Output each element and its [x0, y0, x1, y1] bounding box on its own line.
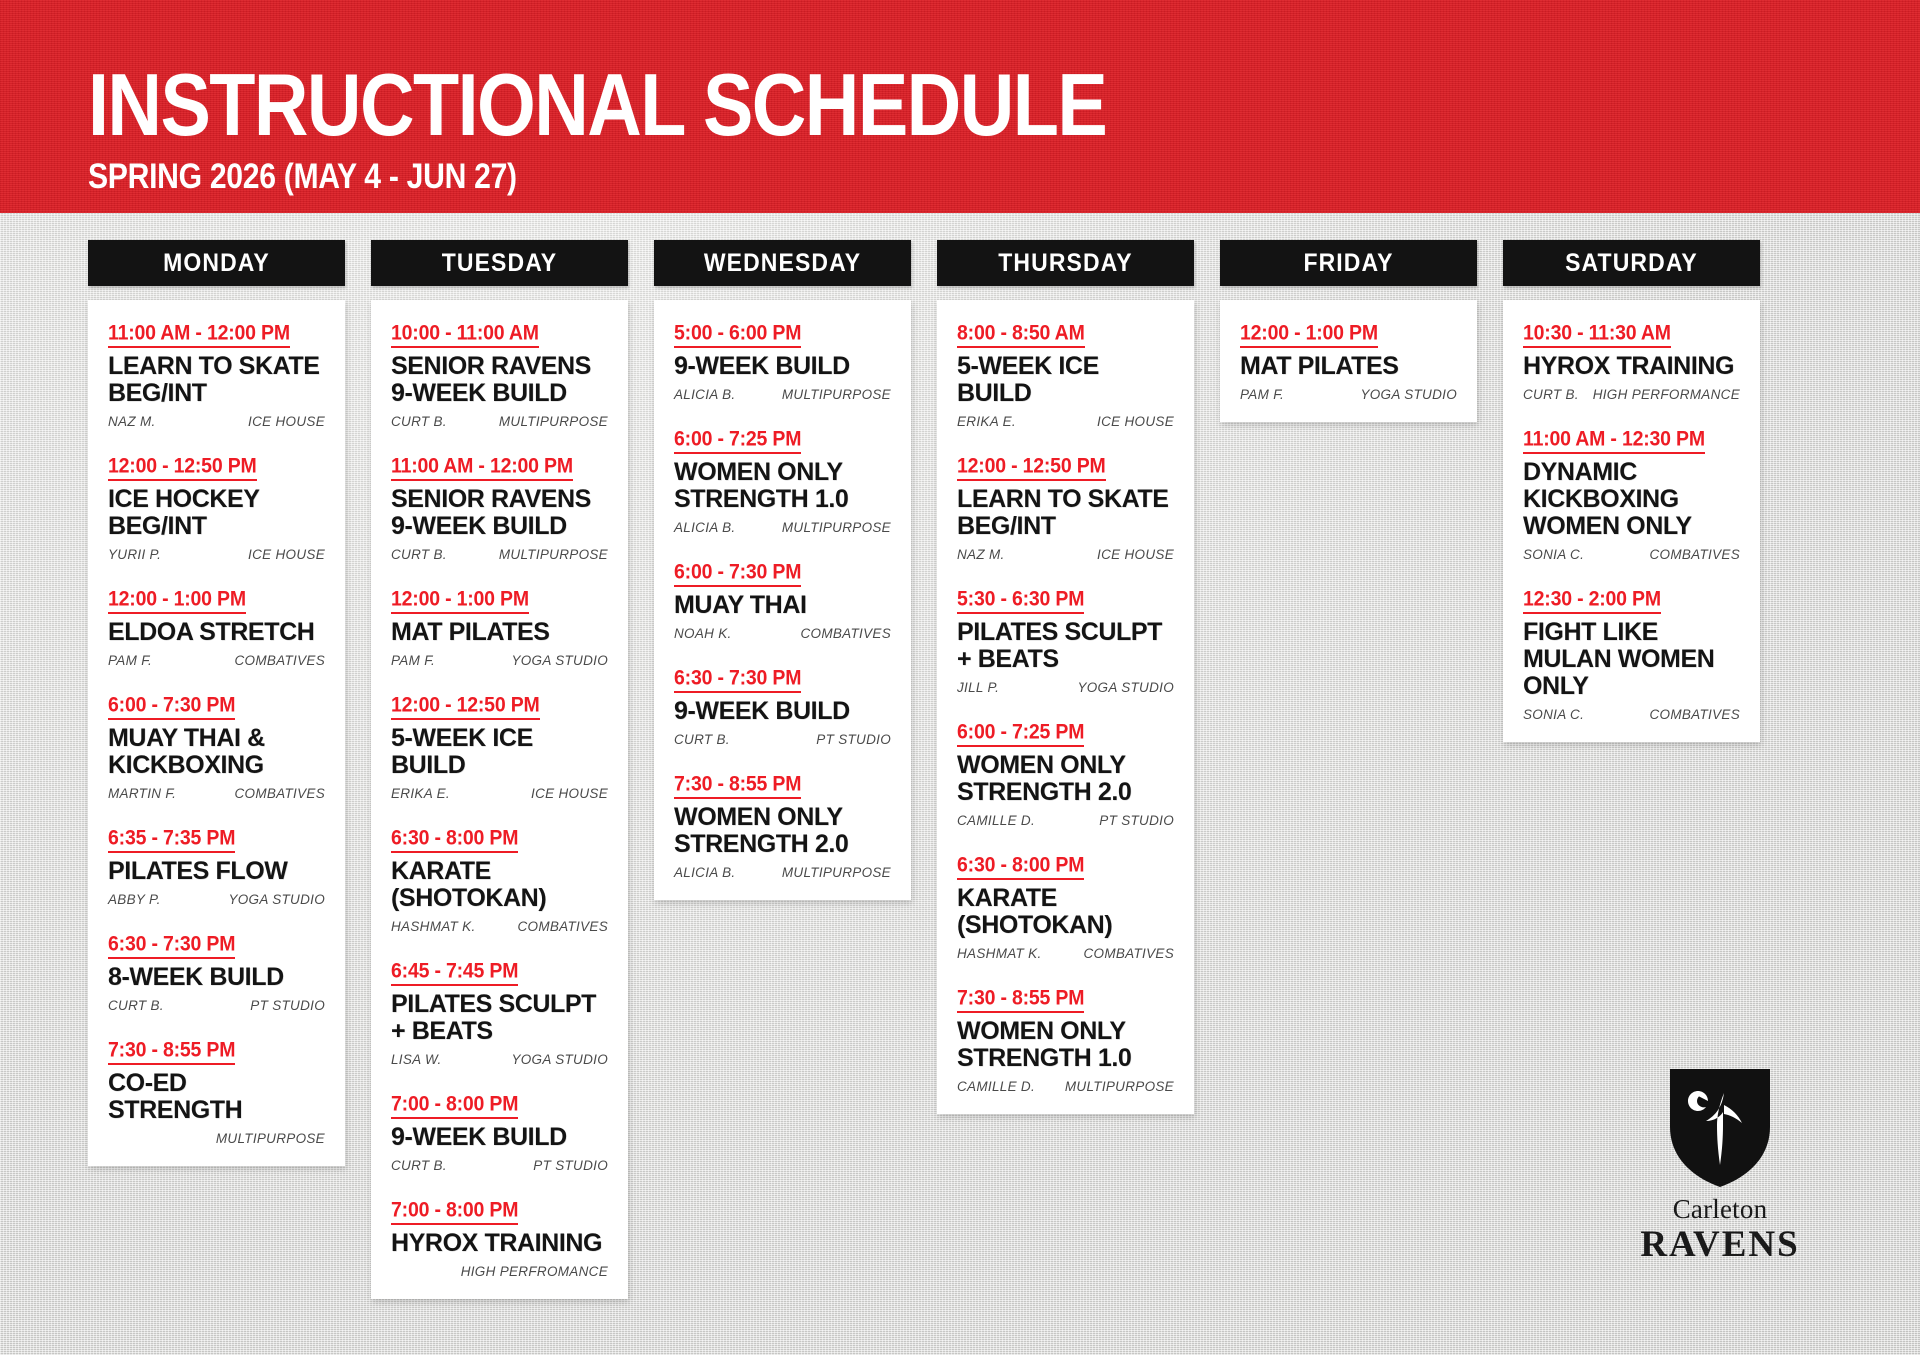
class-time: 6:30 - 8:00 PM	[957, 854, 1084, 880]
class-location: YOGA STUDIO	[511, 653, 608, 668]
class-time: 6:00 - 7:25 PM	[957, 721, 1084, 747]
class-instructor: ERIKA E.	[957, 414, 1016, 429]
class-entry[interactable]: 8:00 - 8:50 AM5-WEEK ICE BUILDERIKA E.IC…	[957, 322, 1174, 429]
class-instructor: ALICIA B.	[674, 520, 735, 535]
class-location: MULTIPURPOSE	[499, 547, 608, 562]
class-time: 6:00 - 7:30 PM	[108, 694, 235, 720]
class-meta: NAZ M.ICE HOUSE	[957, 547, 1174, 562]
class-instructor: PAM F.	[1240, 387, 1284, 402]
day-card: 8:00 - 8:50 AM5-WEEK ICE BUILDERIKA E.IC…	[937, 300, 1194, 1114]
class-instructor: CAMILLE D.	[957, 813, 1035, 828]
class-meta: SONIA C.COMBATIVES	[1523, 547, 1740, 562]
class-instructor: PAM F.	[108, 653, 152, 668]
class-time: 6:30 - 7:30 PM	[674, 667, 801, 693]
class-entry[interactable]: 10:30 - 11:30 AMHYROX TRAININGCURT B.HIG…	[1523, 322, 1740, 402]
class-instructor: ALICIA B.	[674, 387, 735, 402]
class-instructor: MARTIN F.	[108, 786, 176, 801]
class-entry[interactable]: 11:00 AM - 12:00 PMSENIOR RAVENS 9-WEEK …	[391, 455, 608, 562]
class-entry[interactable]: 7:30 - 8:55 PMCO-ED STRENGTHMULTIPURPOSE	[108, 1039, 325, 1146]
day-header-label: THURSDAY	[998, 250, 1132, 275]
class-location: COMBATIVES	[1083, 946, 1174, 961]
class-entry[interactable]: 6:30 - 7:30 PM8-WEEK BUILDCURT B.PT STUD…	[108, 933, 325, 1013]
class-instructor: JILL P.	[957, 680, 999, 695]
class-name: 8-WEEK BUILD	[108, 964, 325, 991]
class-location: COMBATIVES	[1649, 707, 1740, 722]
class-location: COMBATIVES	[800, 626, 891, 641]
class-instructor: ABBY P.	[108, 892, 161, 907]
class-time-label: 11:00 AM - 12:30 PM	[1523, 427, 1705, 452]
class-location: YOGA STUDIO	[1360, 387, 1457, 402]
class-instructor: HASHMAT K.	[391, 919, 476, 934]
carleton-ravens-logo: Carleton RAVENS	[1625, 1065, 1815, 1263]
class-time: 6:00 - 7:25 PM	[674, 428, 801, 454]
class-meta: YURII P.ICE HOUSE	[108, 547, 325, 562]
logo-wordmark-carleton: Carleton	[1625, 1196, 1815, 1223]
class-location: YOGA STUDIO	[228, 892, 325, 907]
class-meta: ALICIA B.MULTIPURPOSE	[674, 865, 891, 880]
class-location: ICE HOUSE	[1097, 547, 1174, 562]
class-location: MULTIPURPOSE	[499, 414, 608, 429]
class-entry[interactable]: 6:00 - 7:25 PMWOMEN ONLY STRENGTH 2.0CAM…	[957, 721, 1174, 828]
day-header-label: WEDNESDAY	[704, 250, 861, 275]
class-time-label: 7:00 - 8:00 PM	[391, 1092, 518, 1117]
class-instructor: ERIKA E.	[391, 786, 450, 801]
class-name: PILATES SCULPT + BEATS	[391, 991, 608, 1045]
class-time: 12:30 - 2:00 PM	[1523, 588, 1661, 614]
class-meta: CURT B.PT STUDIO	[674, 732, 891, 747]
class-name: MUAY THAI	[674, 592, 891, 619]
class-meta: CURT B.PT STUDIO	[108, 998, 325, 1013]
class-entry[interactable]: 12:00 - 12:50 PMLEARN TO SKATE BEG/INTNA…	[957, 455, 1174, 562]
day-column: SATURDAY10:30 - 11:30 AMHYROX TRAININGCU…	[1503, 240, 1760, 742]
day-card: 5:00 - 6:00 PM9-WEEK BUILDALICIA B.MULTI…	[654, 300, 911, 900]
class-meta: CURT B.MULTIPURPOSE	[391, 414, 608, 429]
class-entry[interactable]: 12:00 - 12:50 PMICE HOCKEY BEG/INTYURII …	[108, 455, 325, 562]
day-header-label: SATURDAY	[1565, 250, 1698, 275]
class-time: 6:45 - 7:45 PM	[391, 960, 518, 986]
class-location: MULTIPURPOSE	[782, 865, 891, 880]
class-name: WOMEN ONLY STRENGTH 1.0	[674, 459, 891, 513]
class-instructor: LISA W.	[391, 1052, 442, 1067]
class-meta: ABBY P.YOGA STUDIO	[108, 892, 325, 907]
class-time-label: 12:00 - 1:00 PM	[1240, 321, 1378, 346]
page-subtitle: SPRING 2026 (MAY 4 - JUN 27)	[88, 160, 517, 195]
class-time-label: 12:00 - 1:00 PM	[108, 587, 246, 612]
day-header: MONDAY	[88, 240, 345, 286]
class-name: 5-WEEK ICE BUILD	[957, 353, 1174, 407]
class-time: 6:35 - 7:35 PM	[108, 827, 235, 853]
class-location: MULTIPURPOSE	[1065, 1079, 1174, 1094]
class-time-label: 6:30 - 7:30 PM	[674, 666, 801, 691]
day-header: TUESDAY	[371, 240, 628, 286]
class-entry[interactable]: 11:00 AM - 12:00 PMLEARN TO SKATE BEG/IN…	[108, 322, 325, 429]
class-time-label: 11:00 AM - 12:00 PM	[391, 454, 573, 479]
class-name: 5-WEEK ICE BUILD	[391, 725, 608, 779]
class-instructor: CURT B.	[108, 998, 164, 1013]
class-meta: ALICIA B.MULTIPURPOSE	[674, 520, 891, 535]
class-time: 12:00 - 1:00 PM	[108, 588, 246, 614]
class-meta: CURT B.MULTIPURPOSE	[391, 547, 608, 562]
class-time-label: 6:35 - 7:35 PM	[108, 826, 235, 851]
class-location: COMBATIVES	[1649, 547, 1740, 562]
class-instructor: NAZ M.	[957, 547, 1005, 562]
class-meta: PAM F.COMBATIVES	[108, 653, 325, 668]
class-location: PT STUDIO	[1099, 813, 1174, 828]
class-meta: PAM F.YOGA STUDIO	[391, 653, 608, 668]
class-time: 8:00 - 8:50 AM	[957, 322, 1085, 348]
class-meta: CAMILLE D.PT STUDIO	[957, 813, 1174, 828]
class-entry[interactable]: 6:00 - 7:25 PMWOMEN ONLY STRENGTH 1.0ALI…	[674, 428, 891, 535]
class-time-label: 7:30 - 8:55 PM	[957, 986, 1084, 1011]
class-time: 7:30 - 8:55 PM	[674, 773, 801, 799]
class-meta: CURT B.PT STUDIO	[391, 1158, 608, 1173]
class-name: HYROX TRAINING	[391, 1230, 608, 1257]
class-name: MAT PILATES	[391, 619, 608, 646]
class-location: COMBATIVES	[517, 919, 608, 934]
class-time-label: 6:30 - 8:00 PM	[957, 853, 1084, 878]
class-name: DYNAMIC KICKBOXING WOMEN ONLY	[1523, 459, 1740, 540]
class-time-label: 7:30 - 8:55 PM	[108, 1038, 235, 1063]
class-meta: HASHMAT K.COMBATIVES	[957, 946, 1174, 961]
class-time: 10:00 - 11:00 AM	[391, 322, 539, 348]
class-location: YOGA STUDIO	[1077, 680, 1174, 695]
class-location: YOGA STUDIO	[511, 1052, 608, 1067]
day-column: FRIDAY12:00 - 1:00 PMMAT PILATESPAM F.YO…	[1220, 240, 1477, 422]
class-name: LEARN TO SKATE BEG/INT	[108, 353, 325, 407]
class-entry[interactable]: 6:30 - 8:00 PMKARATE (SHOTOKAN)HASHMAT K…	[391, 827, 608, 934]
logo-wordmark-ravens: RAVENS	[1625, 1226, 1815, 1263]
class-time: 10:30 - 11:30 AM	[1523, 322, 1671, 348]
day-header-label: TUESDAY	[442, 250, 558, 275]
class-name: PILATES SCULPT + BEATS	[957, 619, 1174, 673]
class-time-label: 6:00 - 7:25 PM	[957, 720, 1084, 745]
class-name: KARATE (SHOTOKAN)	[957, 885, 1174, 939]
class-instructor: CAMILLE D.	[957, 1079, 1035, 1094]
class-location: MULTIPURPOSE	[216, 1131, 325, 1146]
class-name: 9-WEEK BUILD	[391, 1124, 608, 1151]
poster-header: INSTRUCTIONAL SCHEDULE SPRING 2026 (MAY …	[0, 0, 1920, 213]
class-entry[interactable]: 5:30 - 6:30 PMPILATES SCULPT + BEATSJILL…	[957, 588, 1174, 695]
class-entry[interactable]: 12:00 - 1:00 PMMAT PILATESPAM F.YOGA STU…	[391, 588, 608, 668]
class-entry[interactable]: 6:30 - 8:00 PMKARATE (SHOTOKAN)HASHMAT K…	[957, 854, 1174, 961]
class-meta: HASHMAT K.COMBATIVES	[391, 919, 608, 934]
day-card: 12:00 - 1:00 PMMAT PILATESPAM F.YOGA STU…	[1220, 300, 1477, 422]
class-time: 6:30 - 8:00 PM	[391, 827, 518, 853]
class-time-label: 12:00 - 12:50 PM	[957, 454, 1106, 479]
class-meta: MULTIPURPOSE	[108, 1131, 325, 1146]
class-time-label: 12:00 - 12:50 PM	[108, 454, 257, 479]
class-instructor: SONIA C.	[1523, 707, 1584, 722]
class-time: 7:30 - 8:55 PM	[957, 987, 1084, 1013]
class-location: COMBATIVES	[234, 786, 325, 801]
class-time: 12:00 - 12:50 PM	[108, 455, 257, 481]
class-name: MAT PILATES	[1240, 353, 1457, 380]
class-time-label: 10:00 - 11:00 AM	[391, 321, 539, 346]
class-location: ICE HOUSE	[248, 547, 325, 562]
class-location: ICE HOUSE	[531, 786, 608, 801]
class-name: ICE HOCKEY BEG/INT	[108, 486, 325, 540]
class-name: SENIOR RAVENS 9-WEEK BUILD	[391, 486, 608, 540]
class-entry[interactable]: 6:35 - 7:35 PMPILATES FLOWABBY P.YOGA ST…	[108, 827, 325, 907]
class-instructor: HASHMAT K.	[957, 946, 1042, 961]
raven-shield-icon	[1662, 1065, 1778, 1190]
day-header: THURSDAY	[937, 240, 1194, 286]
class-name: 9-WEEK BUILD	[674, 698, 891, 725]
class-time-label: 6:45 - 7:45 PM	[391, 959, 518, 984]
class-entry[interactable]: 7:00 - 8:00 PMHYROX TRAININGHIGH PERFROM…	[391, 1199, 608, 1279]
class-meta: HIGH PERFROMANCE	[391, 1264, 608, 1279]
class-name: FIGHT LIKE MULAN WOMEN ONLY	[1523, 619, 1740, 700]
class-location: PT STUDIO	[250, 998, 325, 1013]
class-meta: NOAH K.COMBATIVES	[674, 626, 891, 641]
class-time-label: 6:00 - 7:30 PM	[674, 560, 801, 585]
class-instructor: CURT B.	[1523, 387, 1579, 402]
class-time-label: 12:00 - 1:00 PM	[391, 587, 529, 612]
class-time: 7:00 - 8:00 PM	[391, 1199, 518, 1225]
class-location: HIGH PERFORMANCE	[1593, 387, 1740, 402]
class-instructor: NOAH K.	[674, 626, 732, 641]
class-name: MUAY THAI & KICKBOXING	[108, 725, 325, 779]
day-card: 11:00 AM - 12:00 PMLEARN TO SKATE BEG/IN…	[88, 300, 345, 1166]
class-location: HIGH PERFROMANCE	[461, 1264, 608, 1279]
class-time: 7:00 - 8:00 PM	[391, 1093, 518, 1119]
class-time-label: 6:30 - 7:30 PM	[108, 932, 235, 957]
class-time-label: 10:30 - 11:30 AM	[1523, 321, 1671, 346]
class-time: 5:00 - 6:00 PM	[674, 322, 801, 348]
class-location: PT STUDIO	[533, 1158, 608, 1173]
class-time-label: 6:00 - 7:30 PM	[108, 693, 235, 718]
day-header: WEDNESDAY	[654, 240, 911, 286]
class-location: PT STUDIO	[816, 732, 891, 747]
class-entry[interactable]: 6:00 - 7:30 PMMUAY THAINOAH K.COMBATIVES	[674, 561, 891, 641]
class-entry[interactable]: 12:30 - 2:00 PMFIGHT LIKE MULAN WOMEN ON…	[1523, 588, 1740, 722]
class-entry[interactable]: 12:00 - 12:50 PM5-WEEK ICE BUILDERIKA E.…	[391, 694, 608, 801]
class-entry[interactable]: 7:30 - 8:55 PMWOMEN ONLY STRENGTH 1.0CAM…	[957, 987, 1174, 1094]
class-time-label: 12:30 - 2:00 PM	[1523, 587, 1661, 612]
class-name: WOMEN ONLY STRENGTH 2.0	[957, 752, 1174, 806]
class-name: LEARN TO SKATE BEG/INT	[957, 486, 1174, 540]
class-time-label: 12:00 - 12:50 PM	[391, 693, 540, 718]
class-entry[interactable]: 12:00 - 1:00 PMMAT PILATESPAM F.YOGA STU…	[1240, 322, 1457, 402]
class-time: 7:30 - 8:55 PM	[108, 1039, 235, 1065]
class-meta: CURT B.HIGH PERFORMANCE	[1523, 387, 1740, 402]
class-time-label: 5:00 - 6:00 PM	[674, 321, 801, 346]
class-meta: MARTIN F.COMBATIVES	[108, 786, 325, 801]
class-entry[interactable]: 7:00 - 8:00 PM9-WEEK BUILDCURT B.PT STUD…	[391, 1093, 608, 1173]
class-name: SENIOR RAVENS 9-WEEK BUILD	[391, 353, 608, 407]
class-instructor: CURT B.	[391, 1158, 447, 1173]
class-entry[interactable]: 7:30 - 8:55 PMWOMEN ONLY STRENGTH 2.0ALI…	[674, 773, 891, 880]
class-meta: NAZ M.ICE HOUSE	[108, 414, 325, 429]
class-location: ICE HOUSE	[1097, 414, 1174, 429]
day-header: FRIDAY	[1220, 240, 1477, 286]
class-name: CO-ED STRENGTH	[108, 1070, 325, 1124]
class-instructor: CURT B.	[391, 414, 447, 429]
class-meta: LISA W.YOGA STUDIO	[391, 1052, 608, 1067]
class-name: KARATE (SHOTOKAN)	[391, 858, 608, 912]
class-instructor: CURT B.	[391, 547, 447, 562]
class-name: WOMEN ONLY STRENGTH 1.0	[957, 1018, 1174, 1072]
class-location: ICE HOUSE	[248, 414, 325, 429]
class-time-label: 5:30 - 6:30 PM	[957, 587, 1084, 612]
class-meta: ERIKA E.ICE HOUSE	[957, 414, 1174, 429]
class-meta: SONIA C.COMBATIVES	[1523, 707, 1740, 722]
class-meta: CAMILLE D.MULTIPURPOSE	[957, 1079, 1174, 1094]
day-card: 10:00 - 11:00 AMSENIOR RAVENS 9-WEEK BUI…	[371, 300, 628, 1299]
class-time: 12:00 - 12:50 PM	[957, 455, 1106, 481]
schedule-poster: INSTRUCTIONAL SCHEDULE SPRING 2026 (MAY …	[0, 0, 1920, 1355]
class-instructor: CURT B.	[674, 732, 730, 747]
class-time: 5:30 - 6:30 PM	[957, 588, 1084, 614]
class-time: 11:00 AM - 12:30 PM	[1523, 428, 1705, 454]
class-instructor: ALICIA B.	[674, 865, 735, 880]
day-column: TUESDAY10:00 - 11:00 AMSENIOR RAVENS 9-W…	[371, 240, 628, 1299]
class-time-label: 6:00 - 7:25 PM	[674, 427, 801, 452]
class-time-label: 7:00 - 8:00 PM	[391, 1198, 518, 1223]
class-time: 11:00 AM - 12:00 PM	[391, 455, 573, 481]
day-column: MONDAY11:00 AM - 12:00 PMLEARN TO SKATE …	[88, 240, 345, 1166]
class-name: ELDOA STRETCH	[108, 619, 325, 646]
class-entry[interactable]: 11:00 AM - 12:30 PMDYNAMIC KICKBOXING WO…	[1523, 428, 1740, 562]
day-column: WEDNESDAY5:00 - 6:00 PM9-WEEK BUILDALICI…	[654, 240, 911, 900]
class-entry[interactable]: 6:45 - 7:45 PMPILATES SCULPT + BEATSLISA…	[391, 960, 608, 1067]
class-name: 9-WEEK BUILD	[674, 353, 891, 380]
day-column: THURSDAY8:00 - 8:50 AM5-WEEK ICE BUILDER…	[937, 240, 1194, 1114]
class-entry[interactable]: 6:00 - 7:30 PMMUAY THAI & KICKBOXINGMART…	[108, 694, 325, 801]
class-meta: ALICIA B.MULTIPURPOSE	[674, 387, 891, 402]
class-meta: PAM F.YOGA STUDIO	[1240, 387, 1457, 402]
class-time: 12:00 - 12:50 PM	[391, 694, 540, 720]
class-time: 12:00 - 1:00 PM	[391, 588, 529, 614]
class-entry[interactable]: 10:00 - 11:00 AMSENIOR RAVENS 9-WEEK BUI…	[391, 322, 608, 429]
day-header-label: FRIDAY	[1303, 250, 1393, 275]
class-meta: JILL P.YOGA STUDIO	[957, 680, 1174, 695]
page-title: INSTRUCTIONAL SCHEDULE	[88, 62, 1106, 150]
class-entry[interactable]: 6:30 - 7:30 PM9-WEEK BUILDCURT B.PT STUD…	[674, 667, 891, 747]
class-location: MULTIPURPOSE	[782, 520, 891, 535]
class-entry[interactable]: 5:00 - 6:00 PM9-WEEK BUILDALICIA B.MULTI…	[674, 322, 891, 402]
class-name: WOMEN ONLY STRENGTH 2.0	[674, 804, 891, 858]
class-entry[interactable]: 12:00 - 1:00 PMELDOA STRETCHPAM F.COMBAT…	[108, 588, 325, 668]
day-card: 10:30 - 11:30 AMHYROX TRAININGCURT B.HIG…	[1503, 300, 1760, 742]
class-instructor: PAM F.	[391, 653, 435, 668]
class-time-label: 7:30 - 8:55 PM	[674, 772, 801, 797]
class-instructor: YURII P.	[108, 547, 161, 562]
class-location: MULTIPURPOSE	[782, 387, 891, 402]
class-time: 11:00 AM - 12:00 PM	[108, 322, 290, 348]
class-name: HYROX TRAINING	[1523, 353, 1740, 380]
class-name: PILATES FLOW	[108, 858, 325, 885]
class-time: 6:30 - 7:30 PM	[108, 933, 235, 959]
class-instructor: SONIA C.	[1523, 547, 1584, 562]
class-time: 6:00 - 7:30 PM	[674, 561, 801, 587]
class-instructor: NAZ M.	[108, 414, 156, 429]
day-header-label: MONDAY	[163, 250, 270, 275]
day-header: SATURDAY	[1503, 240, 1760, 286]
class-location: COMBATIVES	[234, 653, 325, 668]
class-meta: ERIKA E.ICE HOUSE	[391, 786, 608, 801]
class-time-label: 6:30 - 8:00 PM	[391, 826, 518, 851]
class-time-label: 11:00 AM - 12:00 PM	[108, 321, 290, 346]
class-time-label: 8:00 - 8:50 AM	[957, 321, 1085, 346]
class-time: 12:00 - 1:00 PM	[1240, 322, 1378, 348]
